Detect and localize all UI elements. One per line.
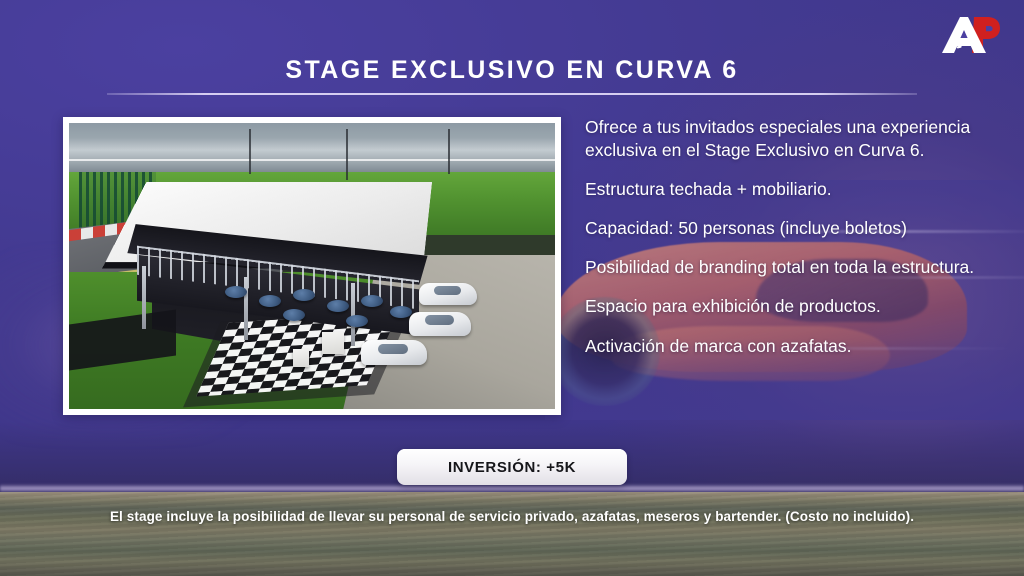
photo-cocktail-table (293, 289, 315, 301)
copy-paragraph-2: Estructura techada + mobiliario. (585, 178, 985, 201)
slide-title: STAGE EXCLUSIVO EN CURVA 6 (0, 56, 1024, 85)
photo-service-unit (293, 349, 309, 367)
photo-car-glass (425, 315, 454, 325)
footer-note: El stage incluye la posibilidad de lleva… (0, 509, 1024, 524)
photo-stage-column (142, 266, 146, 329)
copy-paragraph-4: Posibilidad de branding total en toda la… (585, 256, 985, 279)
photo-cocktail-table (259, 295, 281, 307)
photo-service-unit (322, 332, 344, 354)
photo-car (361, 340, 427, 365)
copy-paragraph-1: Ofrece a tus invitados especiales una ex… (585, 116, 985, 162)
photo-cocktail-table (283, 309, 305, 321)
ap-logo (940, 14, 1002, 56)
investment-button[interactable]: INVERSIÓN: +5K (397, 449, 627, 485)
description-copy: Ofrece a tus invitados especiales una ex… (585, 116, 985, 358)
title-divider (107, 93, 917, 95)
copy-paragraph-6: Activación de marca con azafatas. (585, 335, 985, 358)
stage-photo-frame (63, 117, 561, 415)
band-highlight-streak (0, 484, 1024, 492)
presentation-slide: STAGE EXCLUSIVO EN CURVA 6 (0, 0, 1024, 576)
photo-far-track (69, 123, 555, 172)
photo-car (419, 283, 477, 305)
photo-light-pole (448, 129, 450, 175)
photo-cocktail-table (225, 286, 247, 298)
bottom-motion-blur-band (0, 492, 1024, 576)
photo-cocktail-table (327, 300, 349, 312)
photo-light-pole (249, 129, 251, 175)
copy-paragraph-5: Espacio para exhibición de productos. (585, 295, 985, 318)
photo-cocktail-table (346, 315, 368, 327)
photo-track-line (69, 159, 555, 161)
photo-car (409, 312, 471, 336)
photo-cocktail-table (361, 295, 383, 307)
photo-light-pole (346, 129, 348, 180)
copy-paragraph-3: Capacidad: 50 personas (incluye boletos) (585, 217, 985, 240)
photo-car-glass (434, 286, 461, 295)
photo-stage-column (244, 277, 248, 340)
stage-photo (69, 123, 555, 409)
photo-car-glass (378, 344, 408, 355)
photo-cocktail-table (390, 306, 412, 318)
